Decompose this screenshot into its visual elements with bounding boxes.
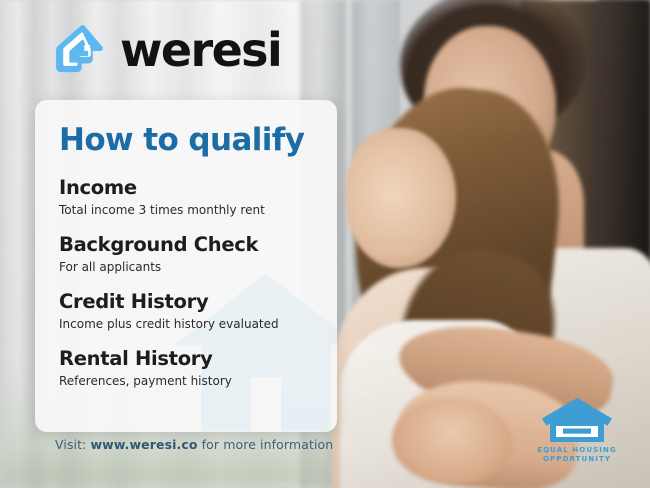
qualify-item-description: Total income 3 times monthly rent <box>59 202 337 218</box>
qualify-item-title: Credit History <box>59 290 337 313</box>
equal-housing-line2: OPPORTUNITY <box>528 455 626 464</box>
footer-suffix: for more information <box>202 437 334 452</box>
equal-housing-opportunity-badge: EQUAL HOUSING OPPORTUNITY <box>528 396 626 464</box>
qualify-item-description: References, payment history <box>59 373 337 389</box>
footer-visit-line: Visit: www.weresi.co for more informatio… <box>55 437 333 452</box>
qualify-card: How to qualify Income Total income 3 tim… <box>35 100 337 432</box>
qualify-item-title: Rental History <box>59 347 337 370</box>
qualify-item-credit-history: Credit History Income plus credit histor… <box>59 290 337 332</box>
footer-prefix: Visit: <box>55 437 86 452</box>
brand-logo[interactable]: weresi <box>52 22 281 78</box>
equal-housing-text: EQUAL HOUSING OPPORTUNITY <box>528 446 626 464</box>
qualify-item-title: Background Check <box>59 233 337 256</box>
qualify-item-description: Income plus credit history evaluated <box>59 316 337 332</box>
equal-housing-house-icon <box>540 396 614 444</box>
brand-wordmark: weresi <box>120 27 281 73</box>
qualify-item-background-check: Background Check For all applicants <box>59 233 337 275</box>
card-title: How to qualify <box>59 124 337 157</box>
equal-housing-line1: EQUAL HOUSING <box>528 446 626 455</box>
house-logo-icon <box>52 22 108 78</box>
qualify-item-title: Income <box>59 176 337 199</box>
qualify-item-income: Income Total income 3 times monthly rent <box>59 176 337 218</box>
qualify-item-rental-history: Rental History References, payment histo… <box>59 347 337 389</box>
qualify-item-description: For all applicants <box>59 259 337 275</box>
footer-website-link[interactable]: www.weresi.co <box>91 437 198 452</box>
